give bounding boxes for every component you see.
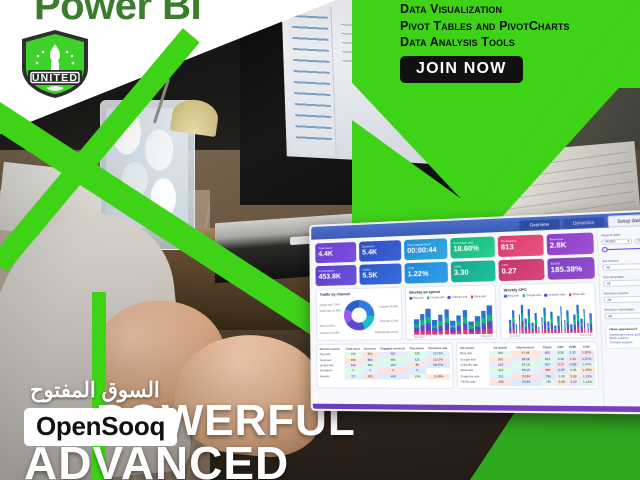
bar bbox=[550, 312, 553, 333]
bar bbox=[525, 319, 527, 334]
bar bbox=[518, 314, 520, 333]
filter-label: Session campaign bbox=[604, 306, 640, 312]
kpi-value: 2.8K bbox=[550, 241, 591, 251]
kpi-card[interactable]: Clicks5.5K bbox=[359, 263, 402, 284]
filter-select[interactable]: All▾ bbox=[604, 295, 640, 302]
legend-item: Google ads bbox=[427, 296, 445, 299]
bar bbox=[469, 322, 474, 335]
data-tables: Session sourceTotal usersSessionsEngaged… bbox=[316, 341, 599, 389]
kpi-card[interactable]: ROAS185.38% bbox=[547, 256, 595, 279]
filter-selects: Ad sourceAll▾Ad campaignAll▾Session sour… bbox=[602, 256, 640, 319]
bar bbox=[541, 317, 543, 333]
table-cell: 1.12% bbox=[580, 380, 596, 386]
poster-canvas: SAMSUNG Power BI UNITED bbox=[0, 0, 640, 480]
panel-title: Weekly CPC bbox=[504, 286, 591, 292]
bar bbox=[487, 305, 493, 333]
kpi-card[interactable]: Revenue2.8K bbox=[546, 232, 594, 255]
table-cell: 716 bbox=[541, 380, 557, 386]
table-session-source[interactable]: Session sourceTotal usersSessionsEngaged… bbox=[316, 343, 454, 389]
table-cell: 134 bbox=[408, 374, 426, 380]
promo-line-1: Data Visualization bbox=[400, 1, 632, 18]
bar bbox=[590, 313, 593, 333]
filters-sidebar: Report date 1/4/2023▾ 5/31/2023▾ bbox=[596, 225, 640, 407]
kpi-value: 18.60% bbox=[453, 245, 491, 255]
bar bbox=[420, 314, 425, 335]
donut-label: twitter ads 10.48% bbox=[320, 309, 341, 312]
bar bbox=[554, 326, 556, 334]
filter-label: Ad campaign bbox=[603, 273, 640, 279]
bar bbox=[509, 320, 511, 334]
kpi-value: 453.8K bbox=[319, 272, 354, 281]
kpi-card[interactable]: Sessions5.4K bbox=[359, 240, 402, 262]
bar bbox=[462, 310, 467, 334]
bar bbox=[576, 305, 579, 333]
bar bbox=[438, 315, 443, 335]
kpi-card-grid: Total users4.4KSessions5.4KAvg engagemen… bbox=[315, 232, 595, 285]
chart-panels: Traffic by channel google ads 7.78% twit… bbox=[316, 282, 598, 341]
filter-label: Ad source bbox=[602, 256, 640, 262]
panel-title: Weekly ad spend bbox=[409, 289, 491, 295]
kpi-card[interactable]: Impressions453.8K bbox=[315, 264, 357, 285]
bar bbox=[567, 310, 570, 333]
legend-item: LinkedIn ads bbox=[448, 295, 468, 299]
bar bbox=[538, 327, 540, 333]
table-cell: 727 bbox=[344, 374, 362, 380]
filter-value: All bbox=[607, 281, 611, 285]
table-ad-source[interactable]: Ad sourceAd spendImpressionsClicksCPCCPM… bbox=[456, 341, 599, 389]
bar bbox=[521, 305, 524, 334]
setup-dashboard-button[interactable]: Setup dashboard bbox=[608, 213, 640, 227]
bar bbox=[432, 320, 437, 335]
kpi-value: 3.30 bbox=[454, 268, 493, 277]
kpi-card[interactable]: CPM3.30 bbox=[450, 260, 495, 282]
kpi-value: 0.27 bbox=[502, 267, 542, 277]
table-cell: 11.08% bbox=[427, 374, 451, 380]
chevron-down-icon: ▾ bbox=[628, 239, 630, 242]
bar bbox=[573, 315, 576, 333]
promo-block: Data Visualization Pivot Tables and Pivo… bbox=[400, 1, 632, 83]
bar bbox=[570, 324, 572, 333]
bar bbox=[544, 308, 547, 334]
watermark-opensooq: OpenSooq bbox=[24, 408, 177, 446]
bar-chart bbox=[504, 298, 592, 334]
bar bbox=[531, 323, 533, 334]
filter-value: All bbox=[606, 265, 610, 269]
kpi-card[interactable]: Purchase rate18.60% bbox=[450, 236, 495, 258]
bar bbox=[481, 311, 487, 334]
bar bbox=[564, 320, 566, 333]
table-cell: 209 bbox=[490, 380, 512, 386]
donut-label: facebook 14.08% bbox=[320, 332, 339, 335]
legend-item: Bing ads bbox=[504, 294, 519, 298]
filter-select[interactable]: All▾ bbox=[604, 312, 640, 319]
bar bbox=[548, 321, 550, 333]
table-cell: 3.27 bbox=[568, 380, 580, 386]
bar bbox=[444, 309, 449, 334]
kpi-value: 4.4K bbox=[318, 250, 353, 259]
bar bbox=[557, 316, 560, 333]
chart-legend: Bing adsGoogle adsLinkedIn adsMeta ads bbox=[504, 293, 591, 298]
united-shield-logo: UNITED bbox=[18, 28, 92, 100]
axis-tick: May 2023 bbox=[580, 334, 592, 337]
panel-weekly-ad-spend[interactable]: Weekly ad spend Bing adsGoogle adsLinked… bbox=[405, 284, 497, 340]
bar bbox=[450, 321, 455, 335]
kpi-value: 5.4K bbox=[362, 248, 398, 257]
axis-tick: Apr 2023 bbox=[509, 335, 520, 338]
donut-label: snapchat ads 13.0% bbox=[375, 331, 398, 334]
promo-line-3: Data Analysis Tools bbox=[400, 34, 632, 51]
kpi-value: 813 bbox=[501, 243, 541, 253]
logo-banner-text: UNITED bbox=[32, 72, 78, 84]
bar bbox=[580, 319, 582, 333]
table-cell: 905 bbox=[362, 374, 378, 380]
page-title: Power BI bbox=[34, 0, 201, 29]
panel-traffic-by-channel[interactable]: Traffic by channel google ads 7.78% twit… bbox=[316, 287, 403, 341]
table-cell: TikTok ads bbox=[460, 380, 490, 386]
bar bbox=[456, 315, 461, 334]
kpi-value: 5.5K bbox=[362, 271, 398, 280]
panel-title: Traffic by channel bbox=[320, 291, 398, 297]
filter-select[interactable]: All▾ bbox=[603, 262, 640, 270]
filter-select[interactable]: All▾ bbox=[603, 279, 640, 287]
kpi-card[interactable]: CPC0.27 bbox=[498, 258, 545, 280]
kpi-card[interactable]: CTR1.22% bbox=[404, 261, 448, 283]
help-title: Have questions? bbox=[609, 326, 640, 331]
legend-item: Meta ads bbox=[569, 293, 585, 297]
bar bbox=[414, 319, 419, 335]
join-now-button[interactable]: JOIN NOW bbox=[400, 56, 523, 83]
bar bbox=[560, 306, 563, 333]
date-from-value: 1/4/2023 bbox=[604, 240, 615, 244]
table-cell: 0.25 bbox=[556, 380, 568, 386]
bar-chart bbox=[409, 300, 492, 335]
table-cell: 53.84 bbox=[512, 380, 541, 386]
watermark-label: OpenSooq bbox=[36, 411, 165, 441]
filter-value: All bbox=[608, 314, 612, 318]
tab-dynamics[interactable]: Dynamics bbox=[563, 217, 605, 228]
legend-item: Meta ads bbox=[471, 295, 486, 298]
kpi-card[interactable]: Purchases813 bbox=[497, 234, 544, 257]
filter-value: All bbox=[607, 297, 611, 301]
help-card: Have questions? Dashboard setup guide Bo… bbox=[605, 322, 640, 348]
table-cell: linkedin bbox=[319, 374, 344, 380]
chart-legend: Bing adsGoogle adsLinkedIn adsMeta ads bbox=[409, 295, 491, 300]
table-cell: 449 bbox=[378, 374, 408, 380]
kpi-card[interactable]: Total users4.4K bbox=[315, 242, 356, 263]
legend-item: LinkedIn ads bbox=[544, 293, 565, 297]
kpi-value: 00:00:44 bbox=[407, 247, 444, 257]
filter-label: Session source bbox=[604, 289, 640, 295]
watermark-arabic: السوق المفتوح bbox=[30, 378, 160, 403]
bar bbox=[512, 310, 515, 333]
date-to-input[interactable]: 5/31/2023▾ bbox=[634, 237, 640, 244]
table-row[interactable]: linkedin72790544913411.08% bbox=[319, 374, 450, 380]
donut-label: google ads 7.78% bbox=[320, 303, 340, 306]
bar bbox=[583, 309, 586, 333]
donut-label: bing ads 12.8% bbox=[380, 320, 398, 323]
axis-tick: May 2023 bbox=[481, 335, 493, 338]
bar bbox=[475, 316, 480, 334]
legend-item: Bing ads bbox=[409, 296, 423, 299]
donut-chart bbox=[343, 300, 374, 331]
tab-overview[interactable]: Overview bbox=[519, 218, 559, 229]
promo-line-2: Pivot Tables and PivotCharts bbox=[400, 18, 632, 35]
bar bbox=[515, 324, 517, 334]
date-from-input[interactable]: 1/4/2023▾ bbox=[602, 238, 633, 245]
legend-item: Google ads bbox=[522, 294, 541, 298]
bar bbox=[426, 309, 431, 335]
report-date-label: Report date bbox=[601, 231, 640, 238]
kpi-value: 185.38% bbox=[550, 265, 591, 275]
bar bbox=[528, 309, 531, 333]
link-contact-support[interactable]: Contact support bbox=[610, 340, 640, 344]
donut-label: Meta 10.66% bbox=[320, 325, 335, 328]
kpi-value: 1.22% bbox=[408, 270, 445, 279]
bar bbox=[587, 323, 589, 333]
analytics-dashboard: Overview Dynamics Setup dashboard Total … bbox=[311, 211, 640, 413]
axis-tick: Apr 2023 bbox=[414, 336, 424, 339]
date-range-slider[interactable] bbox=[602, 244, 640, 253]
donut-label: Linkedin 14.65% bbox=[379, 305, 398, 308]
panel-weekly-cpc[interactable]: Weekly CPC Bing adsGoogle adsLinkedIn ad… bbox=[499, 282, 597, 339]
table-row[interactable]: TikTok ads20953.847160.253.271.12% bbox=[460, 380, 595, 386]
kpi-card[interactable]: Avg engagement00:00:44 bbox=[404, 238, 448, 260]
bar bbox=[534, 313, 537, 333]
